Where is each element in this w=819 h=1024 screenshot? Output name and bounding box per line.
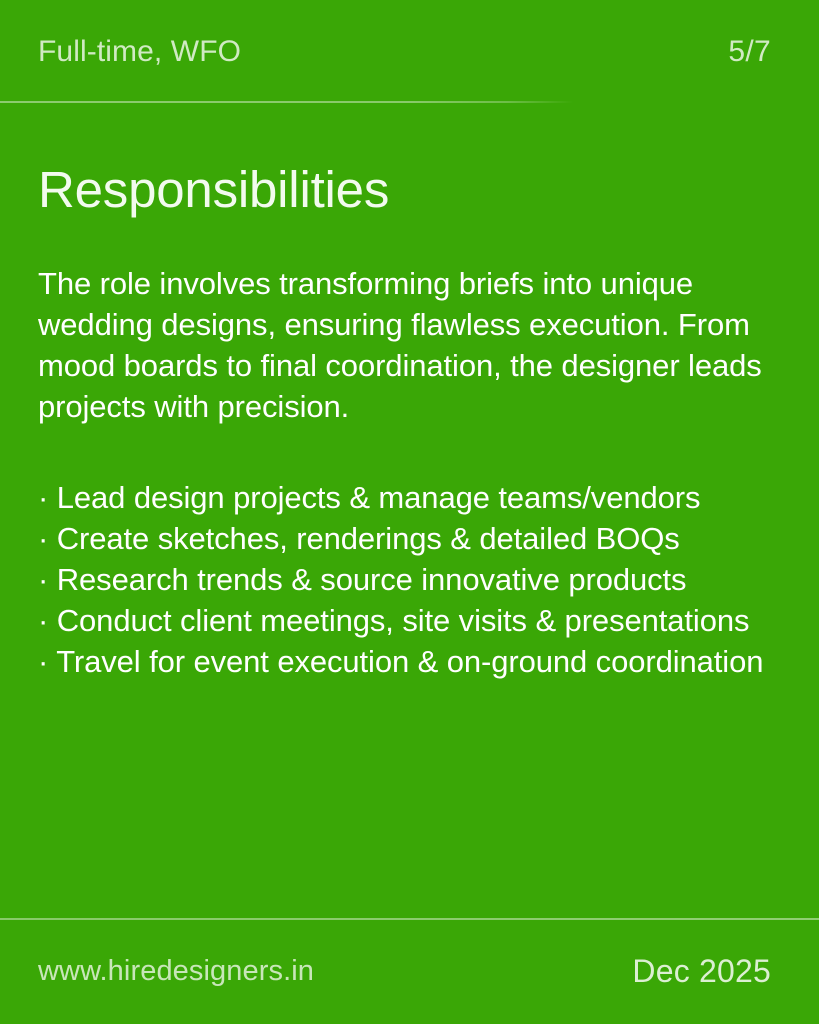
header-divider	[0, 101, 819, 103]
list-item: · Conduct client meetings, site visits &…	[38, 600, 781, 641]
bullet-marker-icon: ·	[38, 644, 48, 679]
page-indicator: 5/7	[728, 37, 771, 67]
header-job-type-label: Full-time, WFO	[38, 37, 241, 67]
footer-date: Dec 2025	[632, 955, 771, 987]
slide-footer: www.hiredesigners.in Dec 2025	[0, 918, 819, 1024]
list-item-label: Travel for event execution & on-ground c…	[56, 644, 763, 679]
responsibilities-list: · Lead design projects & manage teams/ve…	[38, 477, 781, 682]
list-item-label: Lead design projects & manage teams/vend…	[57, 480, 701, 515]
bullet-marker-icon: ·	[38, 521, 48, 556]
list-item-label: Conduct client meetings, site visits & p…	[57, 603, 750, 638]
slide-content: Responsibilities The role involves trans…	[0, 103, 819, 918]
list-item-label: Research trends & source innovative prod…	[57, 562, 687, 597]
footer-website-url[interactable]: www.hiredesigners.in	[38, 957, 314, 986]
slide-card: Full-time, WFO 5/7 Responsibilities The …	[0, 0, 819, 1024]
bullet-marker-icon: ·	[38, 480, 48, 515]
slide-header: Full-time, WFO 5/7	[0, 0, 819, 103]
list-item: · Create sketches, renderings & detailed…	[38, 518, 781, 559]
footer-divider	[0, 918, 819, 920]
intro-paragraph: The role involves transforming briefs in…	[38, 263, 781, 427]
bullet-marker-icon: ·	[38, 562, 48, 597]
bullet-marker-icon: ·	[38, 603, 48, 638]
list-item-label: Create sketches, renderings & detailed B…	[57, 521, 680, 556]
list-item: · Travel for event execution & on-ground…	[38, 641, 781, 682]
page-title: Responsibilities	[38, 163, 781, 217]
list-item: · Research trends & source innovative pr…	[38, 559, 781, 600]
list-item: · Lead design projects & manage teams/ve…	[38, 477, 781, 518]
